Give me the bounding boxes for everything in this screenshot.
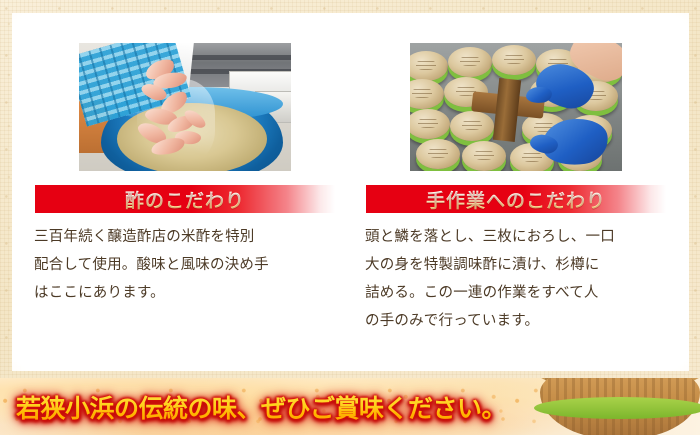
body-line: はここにあります。 xyxy=(34,279,340,307)
body-line: の手のみで行っています。 xyxy=(365,307,671,335)
body-line: 頭と鱗を落とし、三枚におろし、一口 xyxy=(365,223,671,251)
body-line: 大の身を特製調味酢に漬け、杉樽に xyxy=(365,251,671,279)
bamboo-basket-with-fish-fillets xyxy=(534,378,700,435)
card-body-vinegar: 三百年続く醸造酢店の米酢を特別 配合して使用。酸味と風味の決め手 はここにありま… xyxy=(34,223,340,307)
card-title-bar-handwork: 手作業へのこだわり xyxy=(366,185,666,213)
card-title-vinegar: 酢のこだわり xyxy=(125,186,245,213)
card-title-bar-vinegar: 酢のこだわり xyxy=(35,185,335,213)
promo-banner-page: 酢のこだわり 三百年続く醸造酢店の米酢を特別 配合して使用。酸味と風味の決め手 … xyxy=(0,0,700,435)
body-line: 三百年続く醸造酢店の米酢を特別 xyxy=(34,223,340,251)
body-line: 詰める。この一連の作業をすべて人 xyxy=(365,279,671,307)
fish-poured-into-vinegar-tub-photo xyxy=(79,43,291,171)
card-handwork: 手作業へのこだわり 頭と鱗を落とし、三枚におろし、一口 大の身を特製調味酢に漬け… xyxy=(356,27,676,357)
card-body-handwork: 頭と鱗を落とし、三枚におろし、一口 大の身を特製調味酢に漬け、杉樽に 詰める。こ… xyxy=(365,223,671,335)
barrel-packing-by-hand-photo xyxy=(410,43,622,171)
tagline-text: 若狭小浜の伝統の味、ぜひご賞味ください。 xyxy=(16,389,506,425)
body-line: 配合して使用。酸味と風味の決め手 xyxy=(34,251,340,279)
bottom-tagline-banner: 若狭小浜の伝統の味、ぜひご賞味ください。 xyxy=(0,378,700,435)
card-vinegar: 酢のこだわり 三百年続く醸造酢店の米酢を特別 配合して使用。酸味と風味の決め手 … xyxy=(25,27,345,357)
card-title-handwork: 手作業へのこだわり xyxy=(426,186,606,213)
